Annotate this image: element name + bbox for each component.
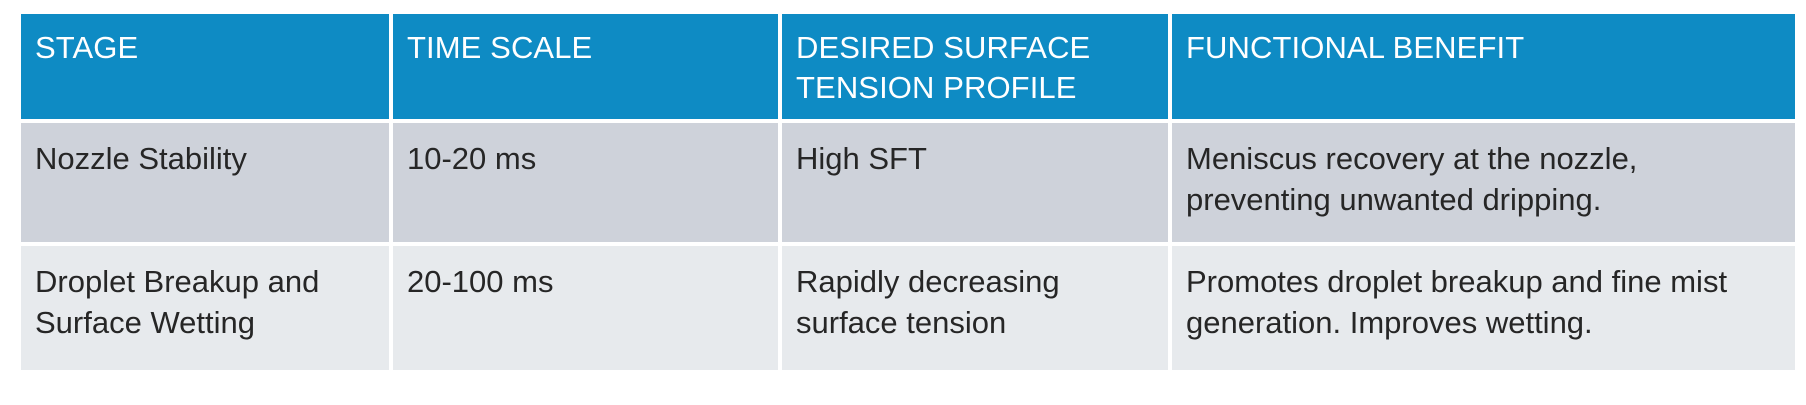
cell-functional-benefit-text: Meniscus recovery at the nozzle, prevent… [1186, 139, 1773, 220]
cell-time-scale: 20-100 ms [393, 242, 782, 370]
column-header-stage-label: STAGE [35, 28, 389, 68]
cell-sft-profile: Rapidly decreasing surface tension [782, 242, 1172, 370]
column-header-time-scale-label: TIME SCALE [407, 28, 778, 68]
table-container: STAGE TIME SCALE DESIRED SURFACE TENSION… [21, 14, 1795, 351]
cell-sft-profile-text: High SFT [796, 139, 1146, 179]
cell-stage: Droplet Breakup and Surface Wetting [21, 242, 393, 370]
cell-time-scale-text: 10-20 ms [407, 139, 756, 179]
cell-time-scale-text: 20-100 ms [407, 262, 756, 302]
column-header-time-scale: TIME SCALE [393, 14, 782, 119]
table-header: STAGE TIME SCALE DESIRED SURFACE TENSION… [21, 14, 1795, 119]
cell-functional-benefit-text: Promotes droplet breakup and fine mist g… [1186, 262, 1773, 343]
table-header-row: STAGE TIME SCALE DESIRED SURFACE TENSION… [21, 14, 1795, 119]
cell-stage-text: Nozzle Stability [35, 139, 367, 179]
table-row: Nozzle Stability 10-20 ms High SFT Menis… [21, 119, 1795, 242]
cell-stage: Nozzle Stability [21, 119, 393, 242]
cell-sft-profile: High SFT [782, 119, 1172, 242]
stage-profile-table: STAGE TIME SCALE DESIRED SURFACE TENSION… [21, 14, 1795, 370]
cell-sft-profile-text: Rapidly decreasing surface tension [796, 262, 1146, 343]
column-header-stage: STAGE [21, 14, 393, 119]
table-row: Droplet Breakup and Surface Wetting 20-1… [21, 242, 1795, 370]
column-header-desired-surface-tension-profile: DESIRED SURFACE TENSION PROFILE [782, 14, 1172, 119]
column-header-desired-surface-tension-profile-label: DESIRED SURFACE TENSION PROFILE [796, 28, 1168, 107]
cell-functional-benefit: Meniscus recovery at the nozzle, prevent… [1172, 119, 1795, 242]
column-header-functional-benefit-label: FUNCTIONAL BENEFIT [1186, 28, 1795, 68]
cell-functional-benefit: Promotes droplet breakup and fine mist g… [1172, 242, 1795, 370]
cell-stage-text: Droplet Breakup and Surface Wetting [35, 262, 367, 343]
table-body: Nozzle Stability 10-20 ms High SFT Menis… [21, 119, 1795, 370]
cell-time-scale: 10-20 ms [393, 119, 782, 242]
column-header-functional-benefit: FUNCTIONAL BENEFIT [1172, 14, 1795, 119]
